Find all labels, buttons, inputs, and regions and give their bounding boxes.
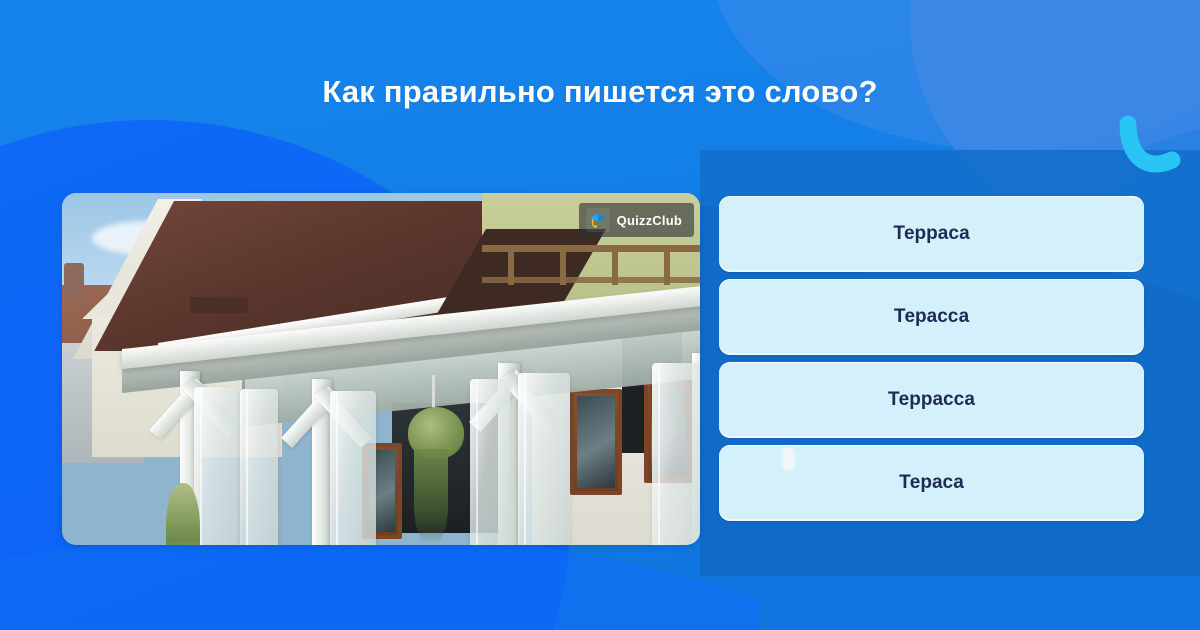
graduation-cap-glyph <box>589 213 607 228</box>
photo-balcony-post <box>508 245 514 285</box>
watermark-brand: QuizzClub <box>617 213 682 228</box>
photo-plant-hook <box>432 375 435 411</box>
photo-curtain <box>330 391 376 545</box>
photo-window <box>570 389 622 495</box>
photo-curtain <box>240 389 278 545</box>
photo-curtain <box>194 387 240 545</box>
photo-roof-window <box>190 297 248 313</box>
answer-option-2[interactable]: Терасса <box>719 279 1144 355</box>
answers-list: Терраса Терасса Террасса Тераса <box>719 196 1144 521</box>
photo-balcony-post <box>612 245 618 285</box>
page-title: Как правильно пишется это слово? <box>0 74 1200 110</box>
photo-curtain <box>470 379 510 545</box>
photo-curtain <box>652 363 700 545</box>
scroll-indicator[interactable] <box>783 448 794 470</box>
question-image: QuizzClub <box>62 193 700 545</box>
answer-option-label: Тераса <box>899 472 964 494</box>
answer-option-3[interactable]: Террасса <box>719 362 1144 438</box>
photo-window-glass <box>577 396 615 488</box>
answer-option-label: Терасса <box>894 306 969 328</box>
photo-chimney <box>64 263 84 297</box>
watermark-badge: QuizzClub <box>579 203 694 237</box>
answer-option-label: Терраса <box>893 223 969 245</box>
answer-option-label: Террасса <box>888 389 975 411</box>
photo-hanging-plant-tail <box>414 449 448 543</box>
photo-balcony-post <box>664 245 670 285</box>
answer-option-1[interactable]: Терраса <box>719 196 1144 272</box>
graduation-cap-icon <box>586 208 610 232</box>
photo-curtain <box>518 373 570 545</box>
photo-balcony-post <box>560 245 566 285</box>
